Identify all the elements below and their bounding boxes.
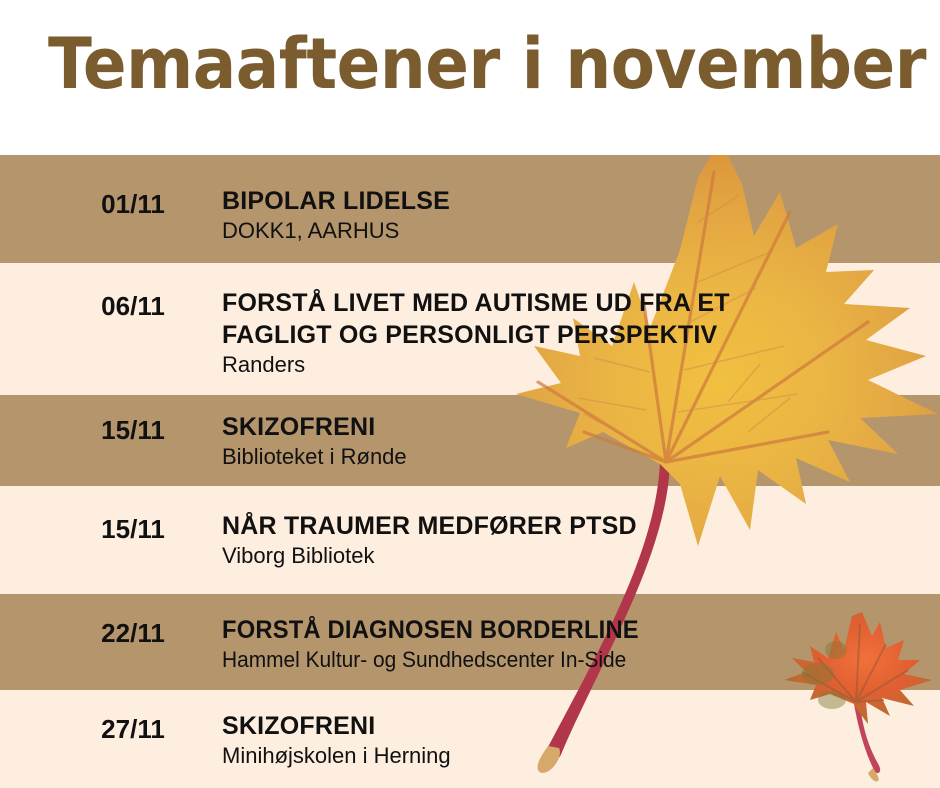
band-row-1 bbox=[0, 155, 940, 263]
band-row-2 bbox=[0, 263, 940, 395]
band-row-6 bbox=[0, 690, 940, 788]
band-row-4 bbox=[0, 486, 940, 594]
band-row-5 bbox=[0, 594, 940, 690]
title-area: Temaaftener i november bbox=[0, 0, 940, 155]
band-row-3 bbox=[0, 395, 940, 486]
page-title: Temaaftener i november bbox=[48, 24, 926, 104]
poster-canvas: 01/11 BIPOLAR LIDELSE DOKK1, AARHUS 06/1… bbox=[0, 0, 940, 788]
